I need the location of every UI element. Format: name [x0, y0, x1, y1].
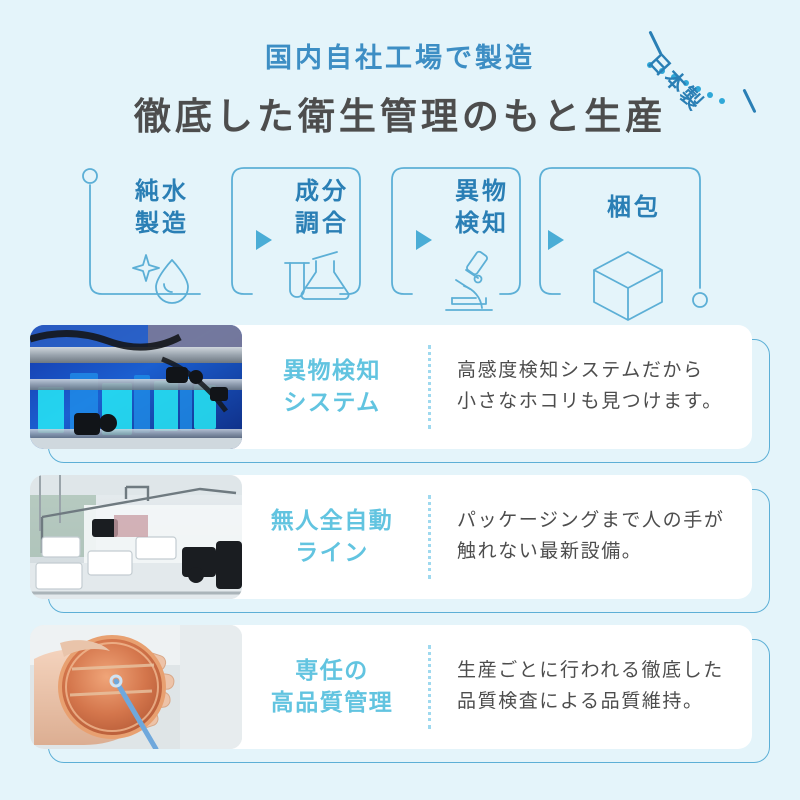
card-description: 生産ごとに行われる徹底した 品質検査による品質維持。: [431, 656, 752, 718]
card-body: 異物検知 システム 高感度検知システムだから 小さなホコリも見つけます。: [30, 325, 752, 449]
made-in-japan-badge: 日本製: [628, 18, 788, 118]
feature-card: 専任の 高品質管理 生産ごとに行われる徹底した 品質検査による品質維持。: [30, 625, 770, 753]
flow-end-dot-icon: [693, 293, 707, 307]
flow-step-label-2: 成分 調合: [268, 176, 376, 239]
microscope-icon: [446, 251, 492, 310]
flow-start-dot-icon: [83, 169, 97, 183]
card-heading: 異物検知 システム: [242, 355, 428, 418]
card-heading: 専任の 高品質管理: [242, 655, 428, 718]
flow-arrow-3-icon: [548, 230, 564, 250]
header: 国内自社工場で製造 徹底した衛生管理のもと生産 日本製: [0, 0, 800, 160]
feature-card: 異物検知 システム 高感度検知システムだから 小さなホコリも見つけます。: [30, 325, 770, 453]
white-automated-conveyor-line-photo: [30, 475, 242, 599]
water-droplet-sparkle-icon: [133, 255, 188, 303]
card-heading: 無人全自動 ライン: [242, 505, 428, 568]
flow-step-label-3: 異物 検知: [428, 176, 536, 239]
flask-testtube-icon: [285, 252, 349, 299]
flow-step-label-1: 純水 製造: [108, 176, 216, 239]
feature-card: 無人全自動 ライン パッケージングまで人の手が 触れない最新設備。: [30, 475, 770, 603]
blue-lit-inspection-machinery-photo: [30, 325, 242, 449]
card-body: 専任の 高品質管理 生産ごとに行われる徹底した 品質検査による品質維持。: [30, 625, 752, 749]
process-flow: 純水 製造 成分 調合 異物 検知 梱包: [0, 160, 800, 325]
feature-card-list: 異物検知 システム 高感度検知システムだから 小さなホコリも見つけます。: [0, 325, 800, 753]
package-box-icon: [594, 252, 662, 320]
flow-step-label-4: 梱包: [580, 192, 688, 224]
card-description: 高感度検知システムだから 小さなホコリも見つけます。: [431, 356, 752, 418]
hand-holding-petri-dish-photo: [30, 625, 242, 749]
card-description: パッケージングまで人の手が 触れない最新設備。: [431, 506, 752, 568]
card-body: 無人全自動 ライン パッケージングまで人の手が 触れない最新設備。: [30, 475, 752, 599]
